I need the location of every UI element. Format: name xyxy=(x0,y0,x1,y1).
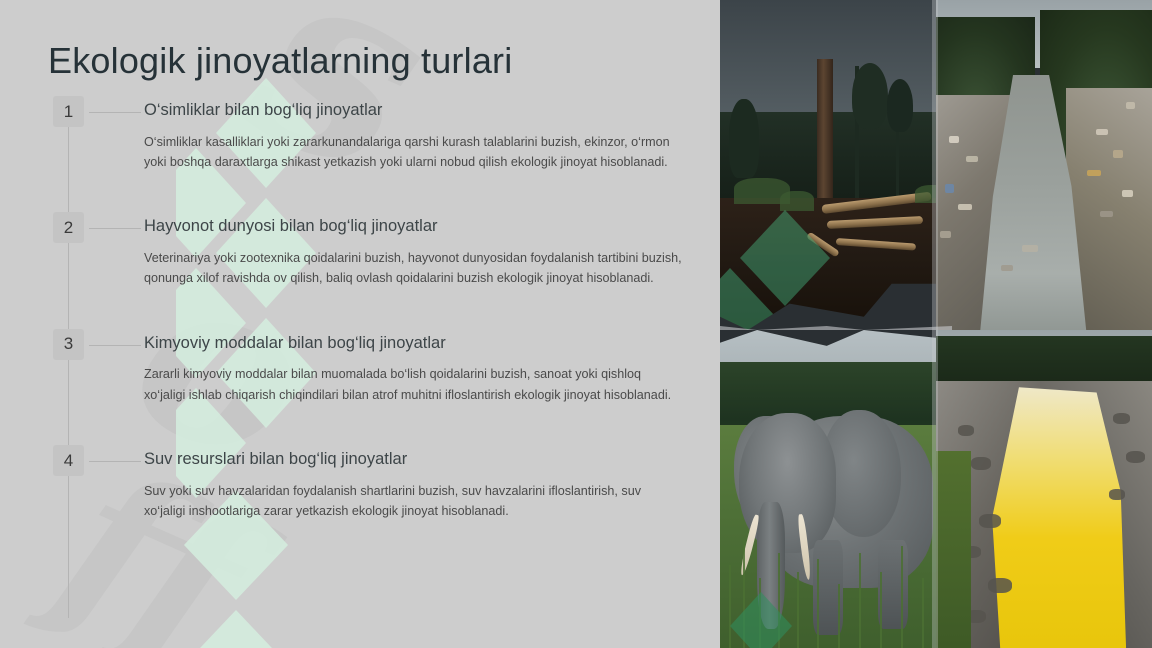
polluted-river-trash-photo xyxy=(936,0,1152,340)
connector-line xyxy=(89,228,141,229)
item-title: Hayvonot dunyosi bilan bog‘liq jinoyatla… xyxy=(144,216,438,237)
item-description: Veterinariya yoki zootexnika qoidalarini… xyxy=(144,248,684,289)
african-elephant-grassland-photo xyxy=(720,330,952,648)
slide: s o ff Ekologik jinoyatlarning turlari xyxy=(0,0,1152,648)
step-number-badge: 4 xyxy=(53,445,84,476)
x-diamond-icon-overlay-2 xyxy=(726,588,796,648)
item-description: O‘simliklar kasalliklari yoki zararkunan… xyxy=(144,132,684,173)
list-item[interactable]: 4 Suv resurslari bilan bog‘liq jinoyatla… xyxy=(48,449,688,521)
toxic-yellow-chemical-channel-photo xyxy=(936,330,1152,648)
list-item[interactable]: 1 O‘simliklar bilan bog‘liq jinoyatlar O… xyxy=(48,100,688,172)
step-number-badge: 1 xyxy=(53,96,84,127)
list-item[interactable]: 3 Kimyoviy moddalar bilan bog‘liq jinoya… xyxy=(48,333,688,405)
connector-line xyxy=(89,461,141,462)
image-collage xyxy=(720,0,1152,648)
step-number-badge: 2 xyxy=(53,212,84,243)
item-title: O‘simliklar bilan bog‘liq jinoyatlar xyxy=(144,100,382,121)
item-title: Kimyoviy moddalar bilan bog‘liq jinoyatl… xyxy=(144,333,446,354)
item-description: Suv yoki suv havzalaridan foydalanish sh… xyxy=(144,481,684,522)
connector-line xyxy=(89,112,141,113)
collage-seam xyxy=(720,326,952,330)
deforestation-logging-photo xyxy=(720,0,952,330)
list-item[interactable]: 2 Hayvonot dunyosi bilan bog‘liq jinoyat… xyxy=(48,216,688,288)
step-number-badge: 3 xyxy=(53,329,84,360)
connector-line xyxy=(89,345,141,346)
timeline-list: 1 O‘simliklar bilan bog‘liq jinoyatlar O… xyxy=(48,100,688,522)
item-description: Zararli kimyoviy moddalar bilan muomalad… xyxy=(144,364,684,405)
page-title: Ekologik jinoyatlarning turlari xyxy=(48,40,512,81)
item-title: Suv resurslari bilan bog‘liq jinoyatlar xyxy=(144,449,407,470)
